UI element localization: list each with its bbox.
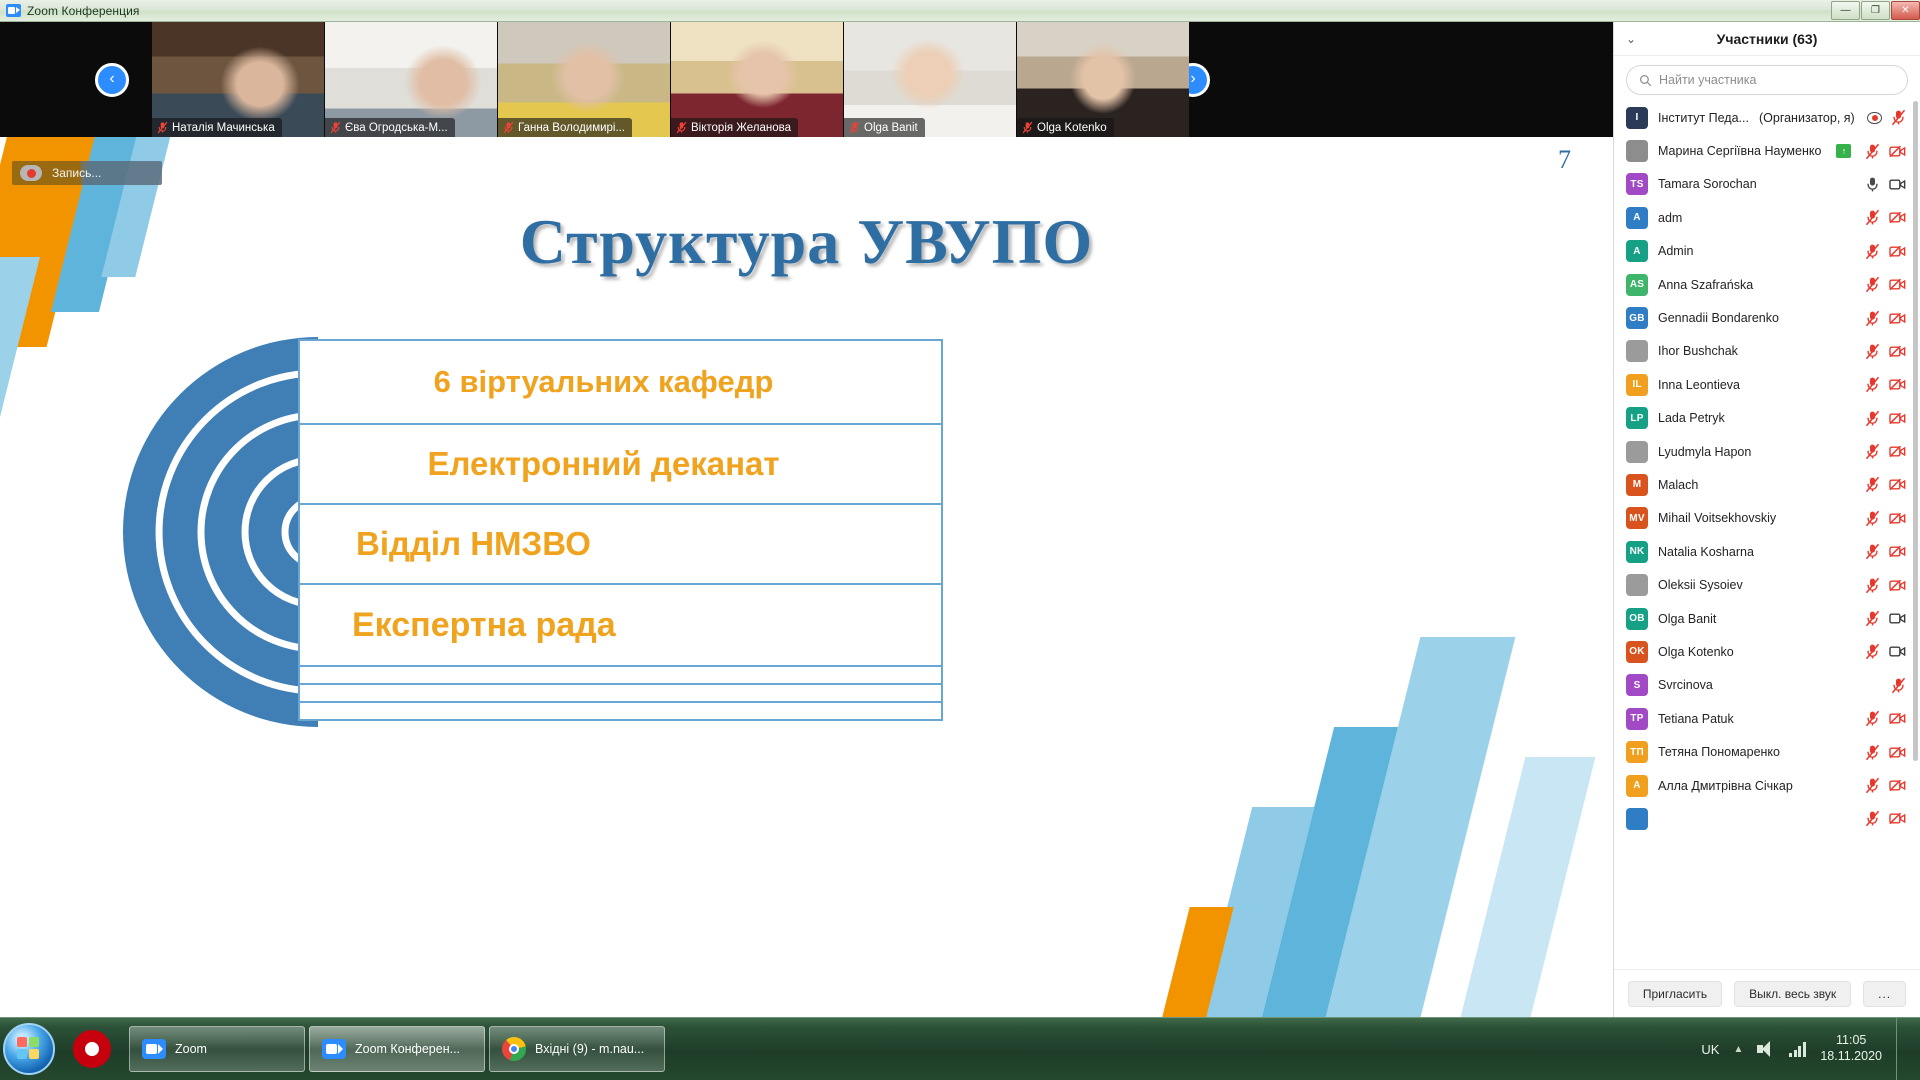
recording-indicator[interactable]: Запись...: [12, 161, 162, 185]
thumbnail-name: Ганна Володимирі...: [518, 122, 625, 134]
thumbnail-list: Наталія МачинськаЄва Огродська-М...Ганна…: [152, 22, 1190, 137]
thumbnail-name-overlay: Вікторія Желанова: [671, 118, 798, 137]
participant-row[interactable]: MVMihail Voitsekhovskiy: [1614, 502, 1920, 535]
mic-off-icon: [1865, 810, 1880, 827]
video-off-icon: [1889, 746, 1906, 759]
video-off-icon: [1889, 545, 1906, 558]
participant-status-icons: [1865, 176, 1906, 193]
participant-status-icons: [1865, 443, 1906, 460]
zoom-video-icon: [6, 4, 21, 17]
participants-header: ⌄ Участники (63): [1614, 22, 1920, 56]
video-thumbnail[interactable]: Вікторія Желанова: [671, 22, 843, 137]
minimize-button[interactable]: —: [1831, 1, 1860, 20]
participant-status-icons: [1867, 109, 1906, 126]
participant-row[interactable]: MMalach: [1614, 468, 1920, 501]
participant-status-icons: [1865, 777, 1906, 794]
avatar: А: [1626, 775, 1648, 797]
mic-off-icon: [1865, 777, 1880, 794]
opera-icon[interactable]: [73, 1030, 111, 1068]
participant-name: adm: [1658, 211, 1855, 225]
video-off-icon: [1889, 312, 1906, 325]
participant-row[interactable]: Ihor Bushchak: [1614, 335, 1920, 368]
participant-name: Тетяна Пономаренко: [1658, 745, 1855, 759]
participant-row[interactable]: ААлла Дмитрівна Січкар: [1614, 769, 1920, 802]
avatar: A: [1626, 207, 1648, 229]
taskbar-task[interactable]: Вхідні (9) - m.nau...: [489, 1026, 665, 1072]
taskbar-task-label: Zoom: [175, 1042, 207, 1056]
slide-box-empty: [298, 701, 943, 721]
mic-off-icon: [849, 121, 860, 134]
participants-footer: Пригласить Выкл. весь звук ...: [1614, 969, 1920, 1017]
shared-screen-stage: Запись... 7 Структура УВУПО 6 віртуальни…: [0, 137, 1613, 1017]
participant-status-icons: [1865, 710, 1906, 727]
mic-off-icon: [1865, 443, 1880, 460]
participant-row[interactable]: Aadm: [1614, 201, 1920, 234]
video-off-icon: [1889, 412, 1906, 425]
search-input[interactable]: Найти участника: [1626, 65, 1908, 95]
mic-off-icon: [1865, 476, 1880, 493]
mic-off-icon: [1865, 577, 1880, 594]
participant-status-icons: [1865, 510, 1906, 527]
thumbnail-name: Olga Kotenko: [1037, 122, 1107, 134]
language-indicator[interactable]: UK: [1701, 1042, 1719, 1057]
avatar: S: [1626, 674, 1648, 696]
taskbar-tasks: ZoomZoom Конферен...Вхідні (9) - m.nau..…: [129, 1026, 665, 1072]
participant-name: Olga Banit: [1658, 612, 1855, 626]
mic-off-icon: [1865, 276, 1880, 293]
slide-title: Структура УВУПО: [0, 205, 1613, 279]
participant-row[interactable]: NKNatalia Kosharna: [1614, 535, 1920, 568]
participant-name: Anna Szafrańska: [1658, 278, 1855, 292]
network-icon[interactable]: [1789, 1042, 1806, 1057]
mic-off-icon: [1865, 143, 1880, 160]
mic-off-icon: [1865, 510, 1880, 527]
video-off-icon: [1889, 378, 1906, 391]
participant-name: Natalia Kosharna: [1658, 545, 1855, 559]
video-thumbnail[interactable]: Ганна Володимирі...: [498, 22, 670, 137]
mic-off-icon: [1865, 209, 1880, 226]
search-placeholder: Найти участника: [1659, 73, 1756, 87]
avatar: [1626, 441, 1648, 463]
participant-status-icons: [1865, 376, 1906, 393]
avatar: TP: [1626, 708, 1648, 730]
thumbnail-name-overlay: Olga Kotenko: [1017, 118, 1114, 137]
participant-name: Lyudmyla Hapon: [1658, 445, 1855, 459]
mic-off-icon: [1891, 677, 1906, 694]
video-on-icon: [1889, 645, 1906, 658]
video-thumbnail[interactable]: Olga Banit: [844, 22, 1016, 137]
video-off-icon: [1889, 712, 1906, 725]
thumbnail-name: Olga Banit: [864, 122, 918, 134]
video-off-icon: [1889, 445, 1906, 458]
participants-scrollbar[interactable]: [1913, 101, 1918, 761]
video-off-icon: [1889, 211, 1906, 224]
avatar: ТП: [1626, 741, 1648, 763]
chevron-right-icon: ›: [1190, 71, 1195, 87]
participant-status-icons: [1865, 643, 1906, 660]
participant-row[interactable]: Lyudmyla Hapon: [1614, 435, 1920, 468]
participant-name: Ihor Bushchak: [1658, 344, 1855, 358]
avatar: A: [1626, 240, 1648, 262]
avatar: MV: [1626, 507, 1648, 529]
recording-icon: [1867, 112, 1882, 124]
mic-off-icon: [1865, 310, 1880, 327]
participant-status-icons: [1865, 143, 1906, 160]
thumbnail-name-overlay: Olga Banit: [844, 118, 925, 137]
system-tray: UK ▲ 11:05 18.11.2020: [1701, 1018, 1920, 1080]
participant-status-icons: [1865, 276, 1906, 293]
speaker-icon[interactable]: [1757, 1041, 1775, 1057]
raise-hand-badge: ↑: [1836, 144, 1851, 158]
participant-row[interactable]: OBOlga Banit: [1614, 602, 1920, 635]
participant-name: Oleksii Sysoiev: [1658, 578, 1855, 592]
thumbnail-name-overlay: Єва Огродська-М...: [325, 118, 455, 137]
participant-row[interactable]: GBGennadii Bondarenko: [1614, 301, 1920, 334]
participant-status-icons: [1891, 677, 1906, 694]
video-off-icon: [1889, 278, 1906, 291]
video-thumbnail[interactable]: Наталія Мачинська: [152, 22, 324, 137]
thumbnail-name-overlay: Наталія Мачинська: [152, 118, 282, 137]
zoom-meeting-window: Zoom Конференция — ❐ ✕ ‹ › Наталія Мачин…: [0, 0, 1920, 1080]
video-off-icon: [1889, 245, 1906, 258]
avatar: [1626, 340, 1648, 362]
avatar: OB: [1626, 608, 1648, 630]
mic-off-icon: [1865, 744, 1880, 761]
participant-name: Olga Kotenko: [1658, 645, 1855, 659]
participant-role: (Организатор, я): [1759, 111, 1855, 125]
participant-row[interactable]: [1614, 802, 1920, 835]
avatar: [1626, 140, 1648, 162]
video-off-icon: [1889, 579, 1906, 592]
thumbnail-name: Наталія Мачинська: [172, 122, 275, 134]
mic-off-icon: [1865, 610, 1880, 627]
avatar: I: [1626, 107, 1648, 129]
participant-status-icons: [1865, 343, 1906, 360]
participant-name: Mihail Voitsekhovskiy: [1658, 511, 1855, 525]
participant-name: Алла Дмитрівна Січкар: [1658, 779, 1855, 793]
clock-date: 18.11.2020: [1820, 1049, 1882, 1065]
participant-name: Inna Leontieva: [1658, 378, 1855, 392]
avatar: AS: [1626, 274, 1648, 296]
participant-row[interactable]: Oleksii Sysoiev: [1614, 568, 1920, 601]
participant-name: Інститут Педа...: [1658, 111, 1749, 125]
video-on-icon: [1889, 178, 1906, 191]
slide-box-empty: [298, 683, 943, 703]
video-filmstrip: ‹ › Наталія МачинськаЄва Огродська-М...Г…: [0, 22, 1613, 137]
close-button[interactable]: ✕: [1891, 1, 1920, 20]
participants-list[interactable]: IІнститут Педа...(Организатор, я)Марина …: [1614, 101, 1920, 969]
thumbnail-name: Єва Огродська-М...: [345, 122, 448, 134]
chevron-down-icon[interactable]: ⌄: [1626, 32, 1636, 46]
participant-status-icons: [1865, 310, 1906, 327]
chrome-icon: [502, 1037, 526, 1061]
participant-row[interactable]: TSTamara Sorochan: [1614, 168, 1920, 201]
participants-panel: ⌄ Участники (63) Найти участника IІнстит…: [1613, 22, 1920, 1017]
participant-name: Svrcinova: [1658, 678, 1881, 692]
slide-box-text: 6 віртуальних кафедр: [326, 365, 941, 400]
more-options-button[interactable]: ...: [1863, 981, 1906, 1007]
participant-status-icons: [1865, 476, 1906, 493]
slide-box-text: Експертна рада: [326, 606, 941, 644]
zoom-icon: [142, 1039, 166, 1059]
participant-row[interactable]: ILInna Leontieva: [1614, 368, 1920, 401]
avatar: NK: [1626, 541, 1648, 563]
slide-page-number: 7: [1558, 145, 1571, 175]
avatar: LP: [1626, 407, 1648, 429]
participant-row[interactable]: IІнститут Педа...(Организатор, я): [1614, 101, 1920, 134]
video-off-icon: [1889, 145, 1906, 158]
mute-all-button[interactable]: Выкл. весь звук: [1734, 981, 1851, 1007]
slide-box-list: 6 віртуальних кафедрЕлектронний деканатВ…: [298, 339, 943, 719]
participant-status-icons: [1865, 744, 1906, 761]
video-off-icon: [1889, 512, 1906, 525]
mic-off-icon: [330, 121, 341, 134]
avatar: IL: [1626, 374, 1648, 396]
participants-search-wrap: Найти участника: [1614, 56, 1920, 101]
windows-taskbar: ZoomZoom Конферен...Вхідні (9) - m.nau..…: [0, 1017, 1920, 1080]
avatar: [1626, 808, 1648, 830]
participant-row[interactable]: ТПТетяна Пономаренко: [1614, 735, 1920, 768]
participant-name: Admin: [1658, 244, 1855, 258]
participant-name: Tamara Sorochan: [1658, 177, 1855, 191]
taskbar-task-label: Zoom Конферен...: [355, 1042, 460, 1056]
avatar: TS: [1626, 173, 1648, 195]
slide-box: Відділ НМЗВО: [298, 503, 943, 585]
window-title: Zoom Конференция: [27, 4, 140, 18]
thumbnail-name-overlay: Ганна Володимирі...: [498, 118, 632, 137]
participant-status-icons: [1865, 410, 1906, 427]
mic-off-icon: [1865, 243, 1880, 260]
slide-box-empty: [298, 665, 943, 685]
participant-row[interactable]: OKOlga Kotenko: [1614, 635, 1920, 668]
participant-name: Malach: [1658, 478, 1855, 492]
avatar: M: [1626, 474, 1648, 496]
avatar: GB: [1626, 307, 1648, 329]
record-dot-icon: [20, 165, 42, 181]
avatar: [1626, 574, 1648, 596]
maximize-button[interactable]: ❐: [1861, 1, 1890, 20]
video-off-icon: [1889, 345, 1906, 358]
participant-status-icons: [1865, 810, 1906, 827]
tray-expand-icon[interactable]: ▲: [1733, 1044, 1743, 1055]
taskbar-task[interactable]: Zoom: [129, 1026, 305, 1072]
mic-off-icon: [157, 121, 168, 134]
video-off-icon: [1889, 478, 1906, 491]
participant-status-icons: [1865, 543, 1906, 560]
participant-row[interactable]: Марина Сергіївна Науменко↑: [1614, 134, 1920, 167]
clock[interactable]: 11:05 18.11.2020: [1820, 1033, 1882, 1064]
window-controls: — ❐ ✕: [1830, 1, 1920, 21]
taskbar-task[interactable]: Zoom Конферен...: [309, 1026, 485, 1072]
slide-box: Електронний деканат: [298, 423, 943, 505]
window-titlebar: Zoom Конференция — ❐ ✕: [0, 0, 1920, 22]
slide-box-text: Відділ НМЗВО: [326, 526, 941, 563]
participant-name: Марина Сергіївна Науменко: [1658, 144, 1821, 158]
windows-logo-icon: [17, 1037, 41, 1061]
participant-status-icons: [1865, 243, 1906, 260]
participant-status-icons: [1865, 577, 1906, 594]
participant-status-icons: [1865, 610, 1906, 627]
clock-time: 11:05: [1820, 1033, 1882, 1049]
participant-row[interactable]: ASAnna Szafrańska: [1614, 268, 1920, 301]
mic-off-icon: [1891, 109, 1906, 126]
zoom-icon: [322, 1039, 346, 1059]
video-thumbnail[interactable]: Olga Kotenko: [1017, 22, 1189, 137]
recording-label: Запись...: [52, 166, 101, 180]
mic-off-icon: [1865, 643, 1880, 660]
mic-off-icon: [676, 121, 687, 134]
search-icon: [1639, 74, 1652, 87]
mic-off-icon: [1865, 410, 1880, 427]
video-thumbnail[interactable]: Єва Огродська-М...: [325, 22, 497, 137]
video-off-icon: [1889, 779, 1906, 792]
participant-row[interactable]: LPLada Petryk: [1614, 402, 1920, 435]
mic-off-icon: [1865, 710, 1880, 727]
filmstrip-prev-button[interactable]: ‹: [95, 63, 129, 97]
video-on-icon: [1889, 612, 1906, 625]
mic-off-icon: [1865, 376, 1880, 393]
slide-box: Експертна рада: [298, 583, 943, 667]
chevron-left-icon: ‹: [109, 71, 114, 87]
taskbar-task-label: Вхідні (9) - m.nau...: [535, 1042, 644, 1056]
mic-off-icon: [1865, 543, 1880, 560]
slide-box: 6 віртуальних кафедр: [298, 339, 943, 425]
video-off-icon: [1889, 812, 1906, 825]
mic-on-icon: [1865, 176, 1880, 193]
thumbnail-name: Вікторія Желанова: [691, 122, 791, 134]
slide-box-text: Електронний деканат: [326, 446, 941, 483]
participant-name: Lada Petryk: [1658, 411, 1855, 425]
participant-name: Tetiana Patuk: [1658, 712, 1855, 726]
participant-row[interactable]: AAdmin: [1614, 235, 1920, 268]
start-button[interactable]: [3, 1023, 55, 1075]
mic-off-icon: [1022, 121, 1033, 134]
show-desktop-button[interactable]: [1896, 1018, 1908, 1080]
invite-button[interactable]: Пригласить: [1628, 981, 1722, 1007]
avatar: OK: [1626, 641, 1648, 663]
participant-name: Gennadii Bondarenko: [1658, 311, 1855, 325]
mic-off-icon: [1865, 343, 1880, 360]
participant-row[interactable]: SSvrcinova: [1614, 669, 1920, 702]
participants-title: Участники (63): [1614, 31, 1920, 47]
participant-status-icons: [1865, 209, 1906, 226]
mic-off-icon: [503, 121, 514, 134]
participant-row[interactable]: TPTetiana Patuk: [1614, 702, 1920, 735]
